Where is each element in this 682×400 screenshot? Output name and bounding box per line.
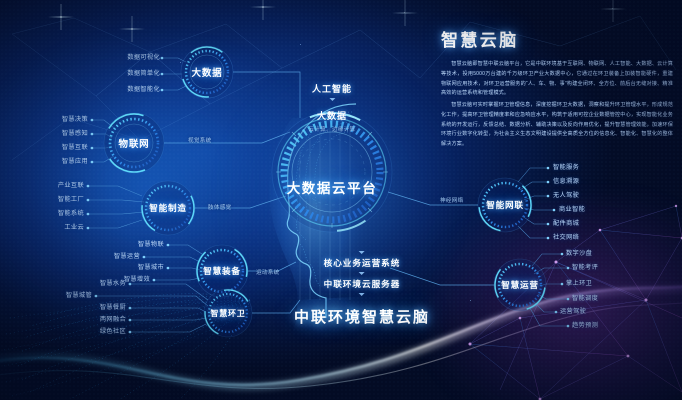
hub-smart-operations-label: 智慧运营 bbox=[501, 279, 539, 291]
platform-title: 大数据云平台 bbox=[287, 177, 378, 197]
infographic-canvas: 智慧云脑 智慧云脑即智慧中联云脑平台，它是中联环境基于互联网、物联网、人工智能、… bbox=[0, 0, 682, 400]
hub-smart-manufacturing-label: 智能制造 bbox=[149, 202, 187, 214]
hub-smart-equipment-label: 智慧装备 bbox=[203, 265, 241, 277]
hub-big-data-label: 大数据 bbox=[192, 65, 223, 79]
hub-intelligent-connected-label: 智能网联 bbox=[486, 199, 524, 211]
hub-smart-sanitation-label: 智慧环卫 bbox=[210, 308, 245, 319]
hub-iot-label: 物联网 bbox=[119, 136, 150, 150]
vignette-overlay bbox=[0, 0, 682, 400]
